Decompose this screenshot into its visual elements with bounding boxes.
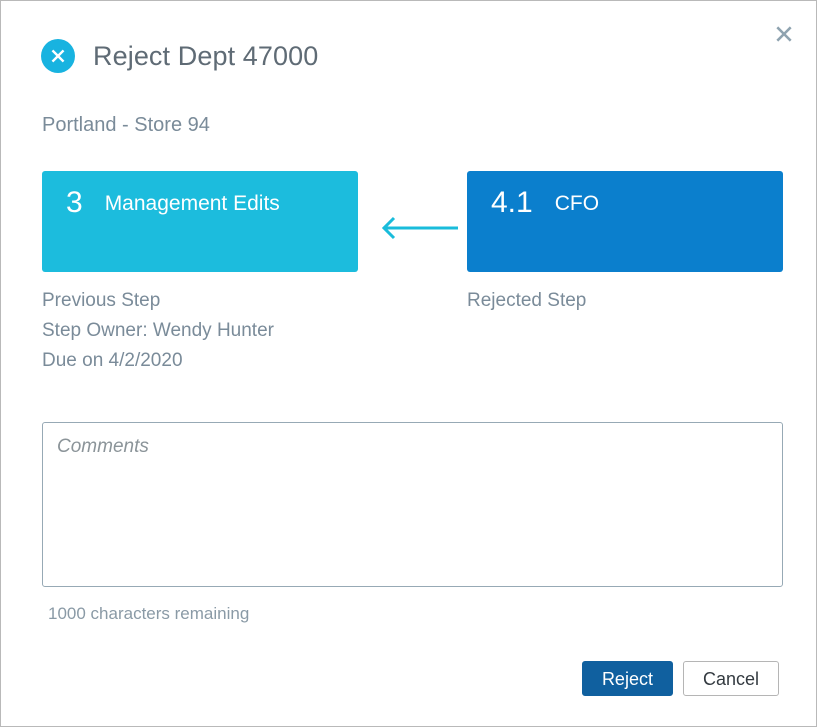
previous-step-due-date: Due on 4/2/2020 (42, 346, 358, 376)
circle-x-icon (41, 39, 75, 73)
character-counter: 1000 characters remaining (42, 604, 783, 624)
rejected-step-meta: Rejected Step (467, 286, 783, 316)
rejected-step-caption: Rejected Step (467, 286, 783, 316)
previous-step-number: 3 (42, 188, 83, 218)
previous-step-meta: Previous Step Step Owner: Wendy Hunter D… (42, 286, 358, 376)
comments-input[interactable] (42, 422, 783, 587)
dialog-subtitle: Portland - Store 94 (42, 114, 210, 137)
arrow-left-icon (372, 216, 460, 240)
previous-step-owner: Step Owner: Wendy Hunter (42, 316, 358, 346)
close-icon (773, 23, 795, 45)
reject-dialog: Reject Dept 47000 Portland - Store 94 3 … (0, 0, 817, 727)
rejected-step-name: CFO (533, 188, 599, 214)
rejected-step-number: 4.1 (467, 188, 533, 218)
previous-step-card[interactable]: 3 Management Edits (42, 171, 358, 272)
rejected-step-column: 4.1 CFO Rejected Step (467, 171, 783, 316)
rejected-step-card[interactable]: 4.1 CFO (467, 171, 783, 272)
page-title: Reject Dept 47000 (93, 41, 318, 72)
previous-step-name: Management Edits (83, 188, 280, 214)
close-icon-button[interactable] (769, 19, 799, 49)
dialog-header: Reject Dept 47000 (41, 39, 318, 73)
cancel-button[interactable]: Cancel (683, 661, 779, 696)
dialog-footer: Reject Cancel (582, 661, 779, 696)
reject-button[interactable]: Reject (582, 661, 673, 696)
previous-step-column: 3 Management Edits Previous Step Step Ow… (42, 171, 358, 376)
comments-section: 1000 characters remaining (42, 422, 783, 624)
previous-step-caption: Previous Step (42, 286, 358, 316)
